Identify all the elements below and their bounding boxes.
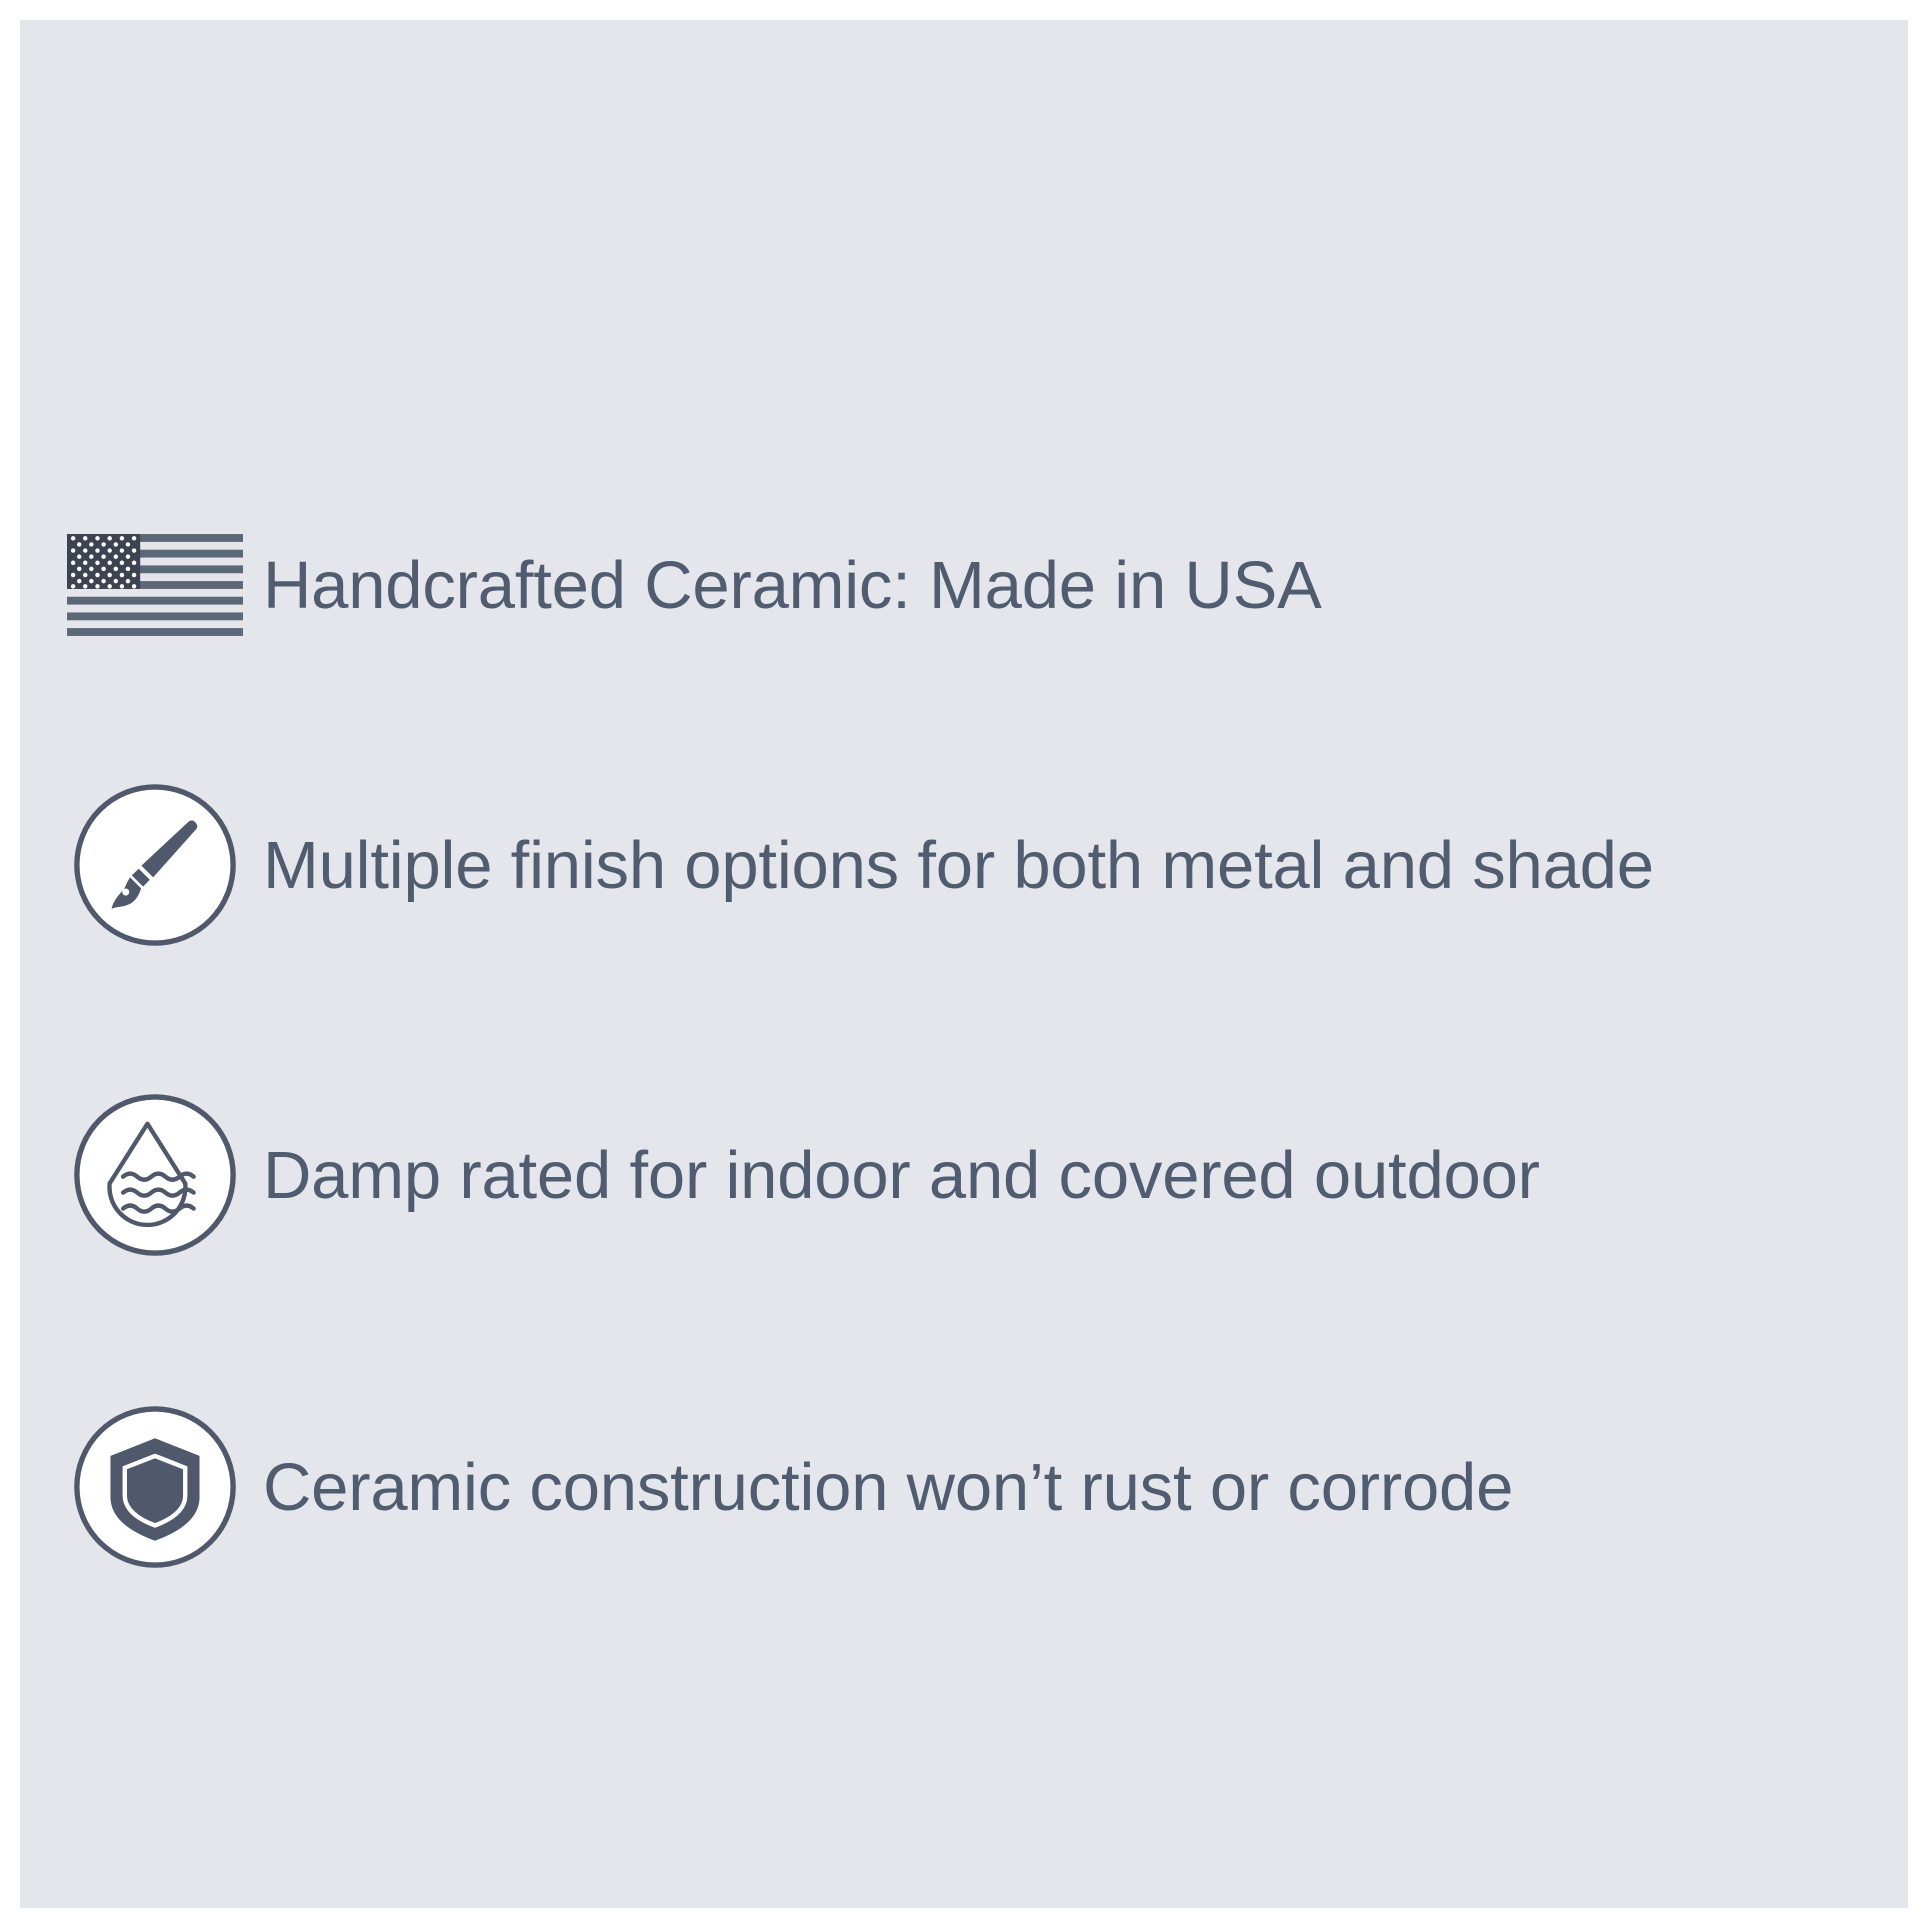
feature-label: Multiple finish options for both metal a… [245,832,1654,899]
feature-row: Damp rated for indoor and covered outdoo… [65,1090,1540,1260]
feature-list: Handcrafted Ceramic: Made in USA [20,20,1908,1908]
feature-row: Multiple finish options for both metal a… [65,780,1654,950]
feature-row: Ceramic construction won’t rust or corro… [65,1402,1513,1572]
feature-label: Damp rated for indoor and covered outdoo… [245,1142,1540,1209]
paintbrush-icon [71,781,239,949]
feature-label: Ceramic construction won’t rust or corro… [245,1454,1513,1521]
feature-icon-slot [65,1402,245,1572]
feature-icon-slot [65,780,245,950]
usa-flag-icon [67,534,243,636]
feature-row: Handcrafted Ceramic: Made in USA [65,500,1322,670]
feature-panel: Handcrafted Ceramic: Made in USA [20,20,1908,1908]
feature-icon-slot [65,500,245,670]
shield-icon [71,1403,239,1571]
feature-icon-slot [65,1090,245,1260]
feature-label: Handcrafted Ceramic: Made in USA [245,552,1322,619]
water-droplet-icon [71,1091,239,1259]
product-feature-card: Handcrafted Ceramic: Made in USA [0,0,1928,1928]
